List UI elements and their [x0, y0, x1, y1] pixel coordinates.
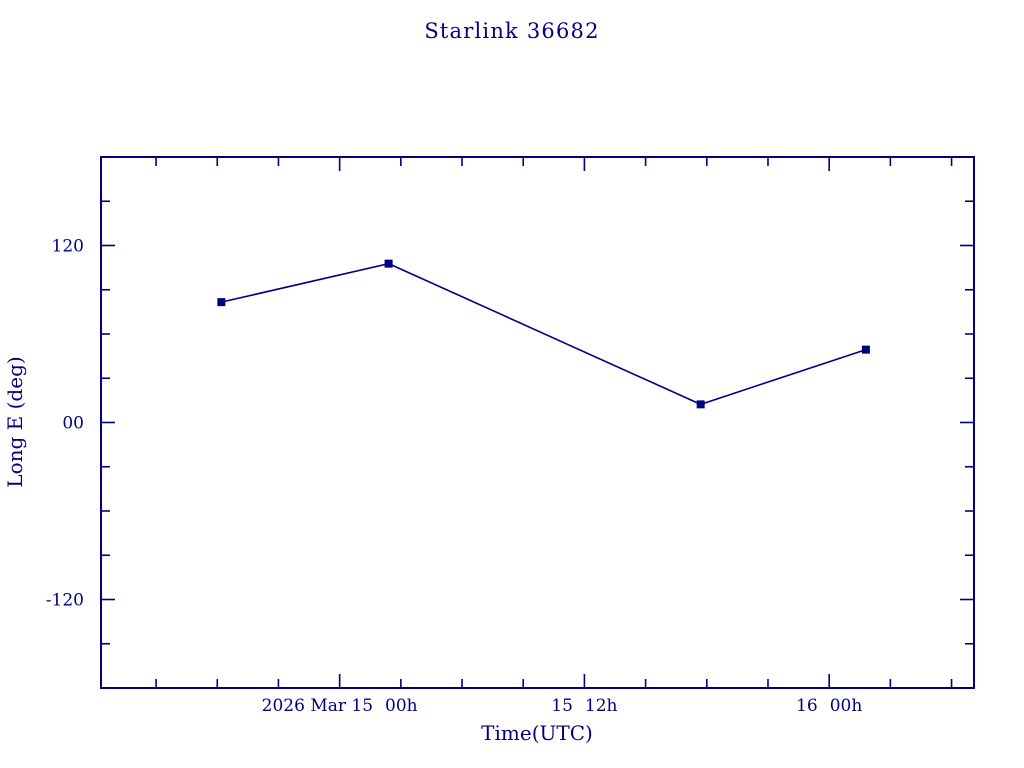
- x-tick-label: 2026 Mar 1500h: [262, 696, 418, 716]
- series-data-point: [385, 260, 392, 267]
- y-tick-label: 120: [52, 237, 84, 257]
- x-tick-label: 1600h: [796, 696, 862, 716]
- x-axis-title: Time(UTC): [481, 721, 593, 745]
- y-tick-label: 00: [62, 414, 84, 434]
- chart-canvas: Starlink 36682 12000-120 2026 Mar 1500h1…: [0, 0, 1024, 768]
- chart-figure: Starlink 36682 12000-120 2026 Mar 1500h1…: [0, 0, 1024, 768]
- y-tick-label: -120: [46, 591, 84, 611]
- y-axis-title: Long E (deg): [3, 356, 27, 487]
- chart-background: [0, 0, 1024, 768]
- series-data-point: [862, 346, 869, 353]
- x-tick-label: 1512h: [551, 696, 617, 716]
- series-data-point: [218, 299, 225, 306]
- series-data-point: [697, 401, 704, 408]
- chart-title: Starlink 36682: [424, 19, 599, 43]
